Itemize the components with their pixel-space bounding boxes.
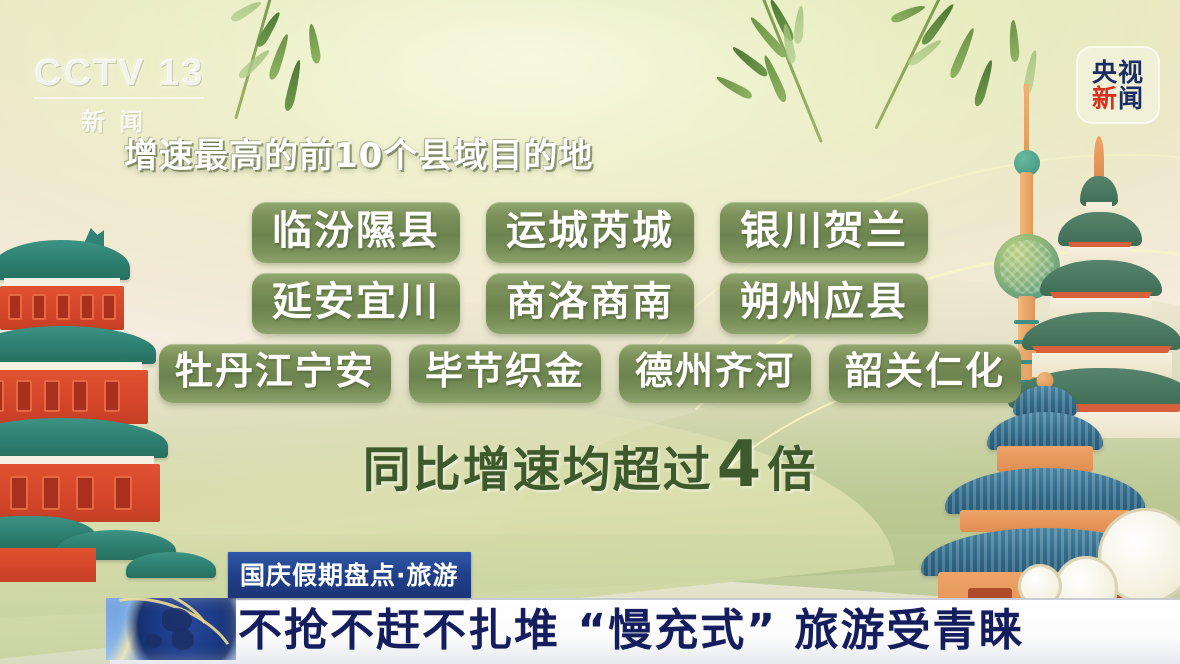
destination-pill: 延安宜川 [252,273,460,334]
cctv-channel-logo: CCTV 13 新闻 [34,52,204,137]
destination-pill: 德州齐河 [619,344,811,403]
footnote-suffix: 倍 [767,442,817,498]
destination-row-1: 临汾隰县 运城芮城 银川贺兰 [0,202,1180,263]
destination-pill: 商洛商南 [486,273,694,334]
infographic-footnote: 同比增速均超过4倍 [0,428,1180,502]
destination-pill: 银川贺兰 [720,202,928,263]
corner-logo-char-news: 闻 [1118,86,1144,111]
corner-logo-line2: 新 闻 [1092,86,1144,111]
news-headline: 不抢不赶不扎堆 “慢充式” 旅游受青睐 [238,594,1024,658]
destination-pill: 运城芮城 [486,202,694,263]
infographic-title: 增速最高的前10个县域目的地 [124,128,593,177]
category-tag: 国庆假期盘点·旅游 [228,552,471,598]
cctv-news-corner-logo: 央视 新 闻 [1076,46,1160,124]
destination-row-2: 延安宜川 商洛商南 朔州应县 [0,273,1180,334]
corner-logo-char-new: 新 [1092,86,1118,111]
broadcast-screen: CCTV 13 新闻 央视 新 闻 增速最高的前10个县域目的地 临汾隰县 运城… [0,0,1180,664]
globe-graphic-gloss [106,598,236,660]
lower-third-banner: 国庆假期盘点·旅游 不抢不赶不扎堆 “慢充式” 旅游受青睐 [0,594,1180,664]
destination-pill: 毕节织金 [409,344,601,403]
destination-pill: 牡丹江宁安 [159,344,391,403]
footnote-prefix: 同比增速均超过 [363,442,713,498]
cctv-logo-text: CCTV 13 [34,52,204,95]
footnote-number: 4 [717,428,764,502]
destination-pill: 临汾隰县 [252,202,460,263]
destination-pill-list: 临汾隰县 运城芮城 银川贺兰 延安宜川 商洛商南 朔州应县 牡丹江宁安 毕节织金… [0,202,1180,413]
corner-logo-line1: 央视 [1092,60,1144,85]
destination-pill: 朔州应县 [720,273,928,334]
destination-row-3: 牡丹江宁安 毕节织金 德州齐河 韶关仁化 [0,344,1180,403]
destination-pill: 韶关仁化 [829,344,1021,403]
